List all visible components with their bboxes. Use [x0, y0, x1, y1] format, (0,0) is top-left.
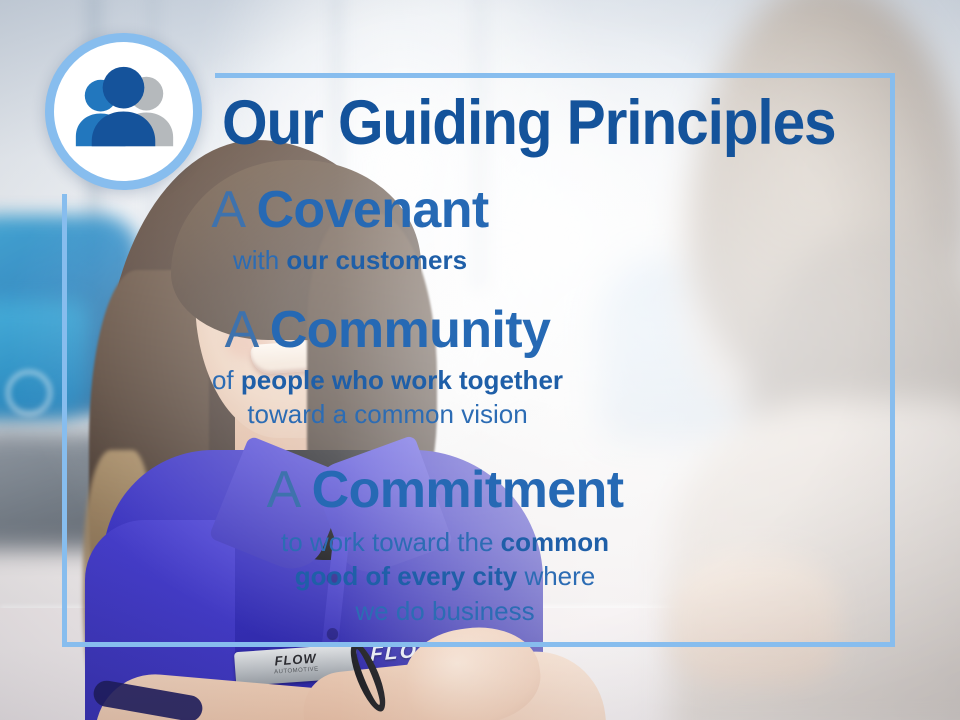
principle-keyword: Commitment	[312, 461, 624, 519]
article-a: A	[267, 461, 312, 519]
page-title: Our Guiding Principles	[222, 92, 836, 155]
principle-commitment-detail: to work toward the commongood of every c…	[0, 525, 890, 628]
principle-community-heading: A Community	[0, 303, 775, 357]
principle-commitment: A Commitment to work toward the commongo…	[0, 463, 890, 628]
principle-keyword: Community	[270, 301, 551, 359]
principle-covenant-detail: with our customers	[0, 243, 700, 277]
article-a: A	[211, 181, 256, 239]
principle-community-detail: of people who work togethertoward a comm…	[0, 363, 775, 432]
principle-community: A Community of people who work togethert…	[0, 303, 775, 432]
principle-commitment-heading: A Commitment	[0, 463, 890, 517]
people-group-badge	[45, 33, 202, 190]
principle-covenant: A Covenant with our customers	[0, 183, 700, 277]
people-group-icon	[54, 42, 193, 181]
marketing-graphic-canvas: FLOW FLOW AUTOMOTIVE	[0, 0, 960, 720]
principle-covenant-heading: A Covenant	[0, 183, 700, 237]
principle-keyword: Covenant	[256, 181, 488, 239]
article-a: A	[225, 301, 270, 359]
